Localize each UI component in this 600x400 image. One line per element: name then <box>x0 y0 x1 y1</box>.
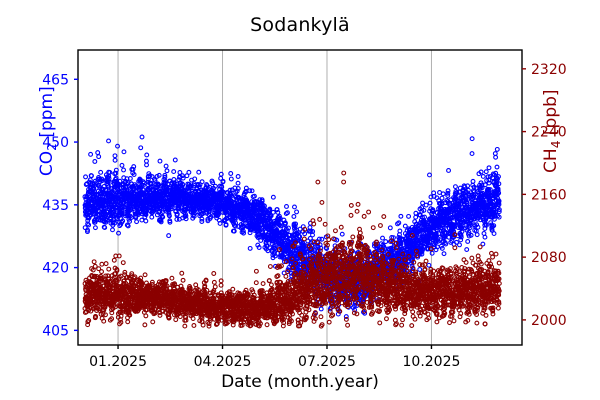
plot-canvas: 01.202504.202507.202510.2025405420435450… <box>0 0 600 400</box>
x-axis-label: Date (month.year) <box>0 372 600 392</box>
chart-figure: Sodankylä 01.202504.202507.202510.202540… <box>0 0 600 400</box>
y-axis-right-label: CH4 [ppb] <box>541 41 563 221</box>
y-axis-left-label: CO2 [ppm] <box>37 41 59 221</box>
